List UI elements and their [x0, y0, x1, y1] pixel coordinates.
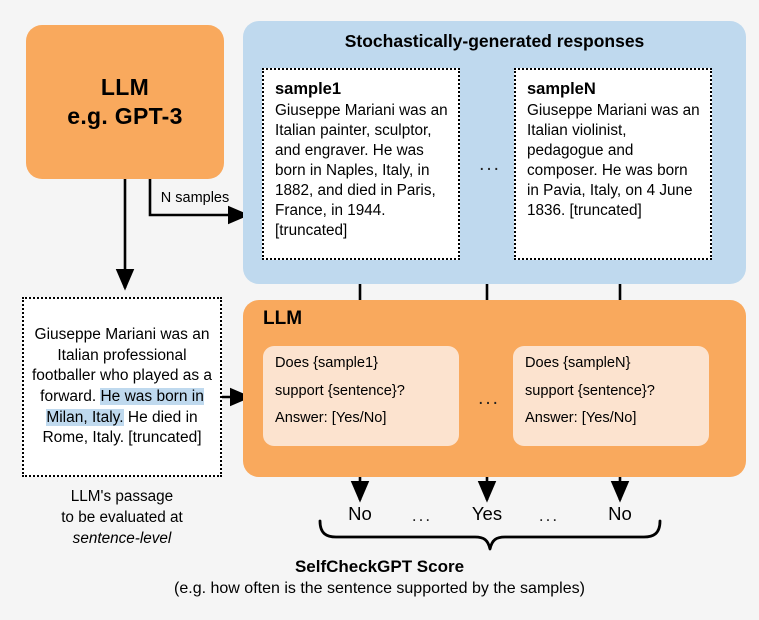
llm-passage-box: Giuseppe Mariani was an Italian professi… [22, 297, 222, 477]
judge-prompt-line1: Does {sampleN} [525, 356, 697, 371]
verdict-middle: Yes [452, 503, 522, 525]
judge-ellipsis-icon: ... [467, 388, 511, 410]
judge-prompt-box: Does {sample1} support {sentence}? Answe… [263, 346, 459, 446]
judge-prompt-line1: Does {sample1} [275, 356, 447, 371]
passage-text: Giuseppe Mariani was an Italian professi… [31, 325, 213, 449]
sample-text: Giuseppe Mariani was an Italian violinis… [527, 101, 700, 220]
passage-caption-line3: sentence-level [12, 528, 232, 549]
llm-judge-panel: LLM Does {sample1} support {sentence}? A… [243, 300, 746, 477]
diagram-canvas: LLM e.g. GPT-3 N samples Stochastically-… [0, 0, 759, 620]
score-subtitle: (e.g. how often is the sentence supporte… [0, 580, 759, 598]
samples-ellipsis-icon: ... [468, 154, 512, 176]
llm-source-line1: LLM [101, 73, 149, 102]
verdict-last: No [585, 503, 655, 525]
verdict-first: No [325, 503, 395, 525]
judge-prompt-line2: support {sentence}? [525, 384, 697, 399]
sample-box: sampleN Giuseppe Mariani was an Italian … [514, 68, 712, 260]
samples-panel-title: Stochastically-generated responses [243, 31, 746, 52]
judge-prompt-line3: Answer: [Yes/No] [275, 411, 447, 426]
passage-caption-line1: LLM's passage [12, 486, 232, 507]
sample-box: sample1 Giuseppe Mariani was an Italian … [262, 68, 460, 260]
sample-label: sample1 [275, 79, 448, 100]
aggregation-brace [320, 521, 660, 549]
sample-label: sampleN [527, 79, 700, 100]
passage-caption-line2: to be evaluated at [12, 507, 232, 528]
stochastic-samples-panel: Stochastically-generated responses sampl… [243, 21, 746, 284]
verdict-ellipsis-icon: ... [524, 506, 574, 526]
judge-prompt-line2: support {sentence}? [275, 384, 447, 399]
llm-source-box: LLM e.g. GPT-3 [26, 25, 224, 179]
n-samples-label: N samples [150, 190, 240, 206]
verdict-ellipsis-icon: ... [397, 506, 447, 526]
judge-prompt-box: Does {sampleN} support {sentence}? Answe… [513, 346, 709, 446]
llm-source-line2: e.g. GPT-3 [67, 102, 182, 131]
sample-text: Giuseppe Mariani was an Italian painter,… [275, 101, 448, 240]
judge-prompt-line3: Answer: [Yes/No] [525, 411, 697, 426]
score-title: SelfCheckGPT Score [0, 557, 759, 577]
judge-panel-title: LLM [263, 308, 302, 330]
passage-caption: LLM's passage to be evaluated at sentenc… [12, 486, 232, 549]
